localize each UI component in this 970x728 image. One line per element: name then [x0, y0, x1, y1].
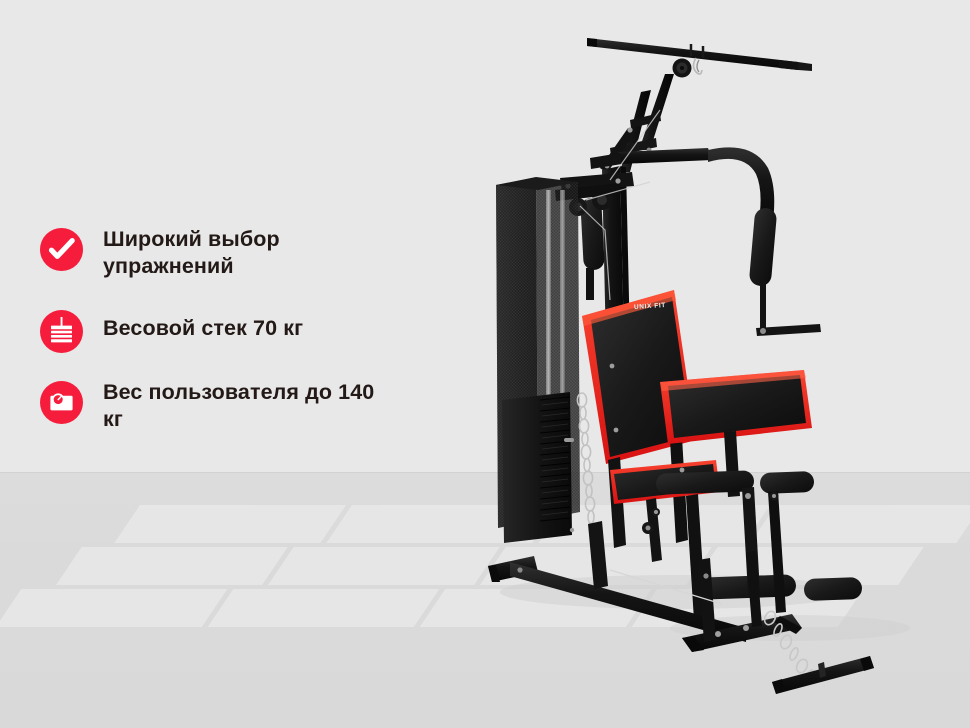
product-banner: Широкий выбор упражнений Весовой стек 70…: [0, 0, 970, 728]
weight-stack-icon: [40, 310, 83, 353]
feature-item: Широкий выбор упражнений: [40, 226, 440, 280]
lat-pulldown-bar: [587, 38, 812, 71]
product-image: UNIX FIT: [460, 0, 970, 728]
feature-label: Весовой стек 70 кг: [103, 315, 303, 342]
feature-label: Широкий выбор упражнений: [103, 226, 393, 280]
bar-hanger: [691, 44, 703, 74]
low-row-bar: [772, 656, 874, 694]
feature-list: Широкий выбор упражнений Весовой стек 70…: [40, 226, 440, 433]
weight-stack: [496, 177, 580, 543]
check-circle-icon: [40, 228, 83, 271]
chain: [577, 393, 594, 524]
feature-label: Вес пользователя до 140 кг: [103, 379, 393, 433]
bathroom-scale-icon: [40, 381, 83, 424]
feature-item: Вес пользователя до 140 кг: [40, 379, 440, 433]
top-pulley: [673, 59, 692, 78]
feature-item: Весовой стек 70 кг: [40, 308, 440, 353]
